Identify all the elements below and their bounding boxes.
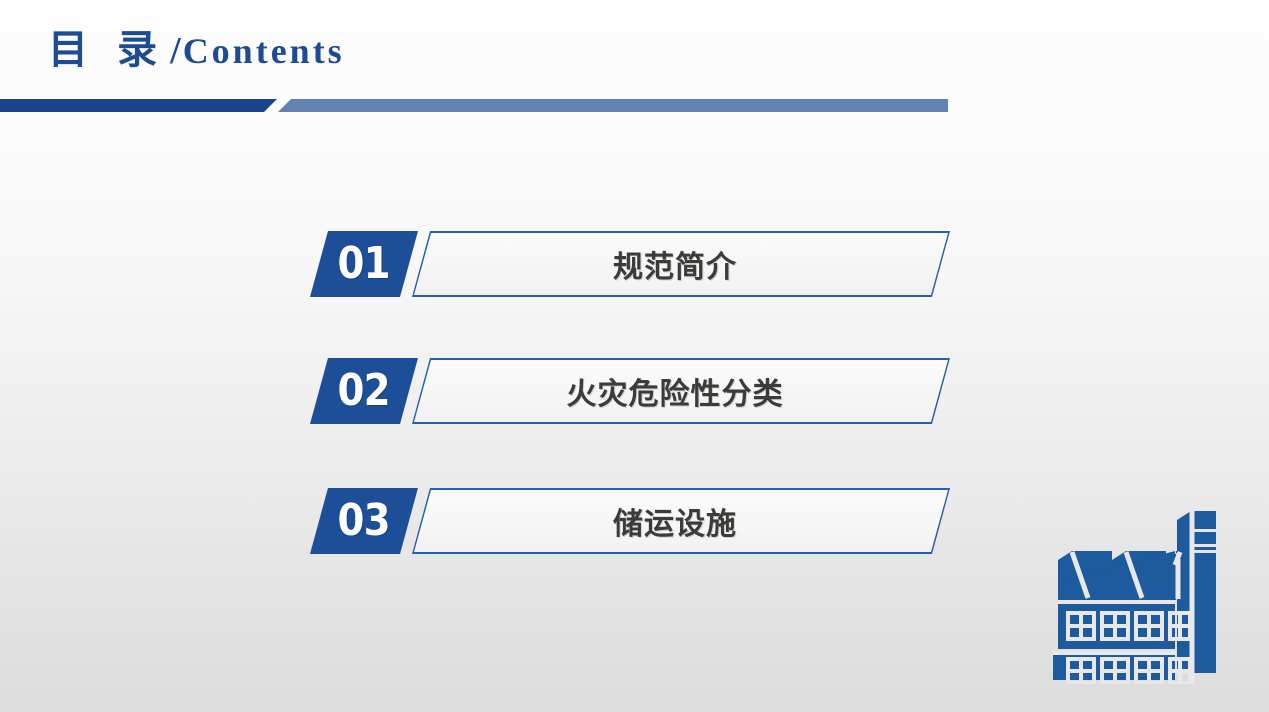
contents-item-02[interactable]: 02 火灾危险性分类: [310, 358, 950, 424]
contents-item-number: 01: [338, 242, 390, 286]
contents-item-label: 规范简介: [412, 231, 950, 297]
contents-item-label-bar[interactable]: 储运设施: [412, 488, 950, 554]
contents-item-label-bar[interactable]: 火灾危险性分类: [412, 358, 950, 424]
factory-icon: [1050, 503, 1218, 684]
contents-item-number-badge[interactable]: 03: [310, 488, 418, 554]
contents-item-03[interactable]: 03 储运设施: [310, 488, 950, 554]
contents-item-label: 火灾危险性分类: [412, 358, 950, 424]
contents-item-number: 02: [338, 369, 390, 413]
slide-canvas: 目 录/Contents 01 规范简介 02 火灾危险性分类: [0, 0, 1269, 712]
contents-item-label: 储运设施: [412, 488, 950, 554]
contents-item-label-bar[interactable]: 规范简介: [412, 231, 950, 297]
contents-item-number: 03: [338, 499, 390, 543]
contents-item-01[interactable]: 01 规范简介: [310, 231, 950, 297]
contents-item-number-badge[interactable]: 01: [310, 231, 418, 297]
contents-item-number-badge[interactable]: 02: [310, 358, 418, 424]
